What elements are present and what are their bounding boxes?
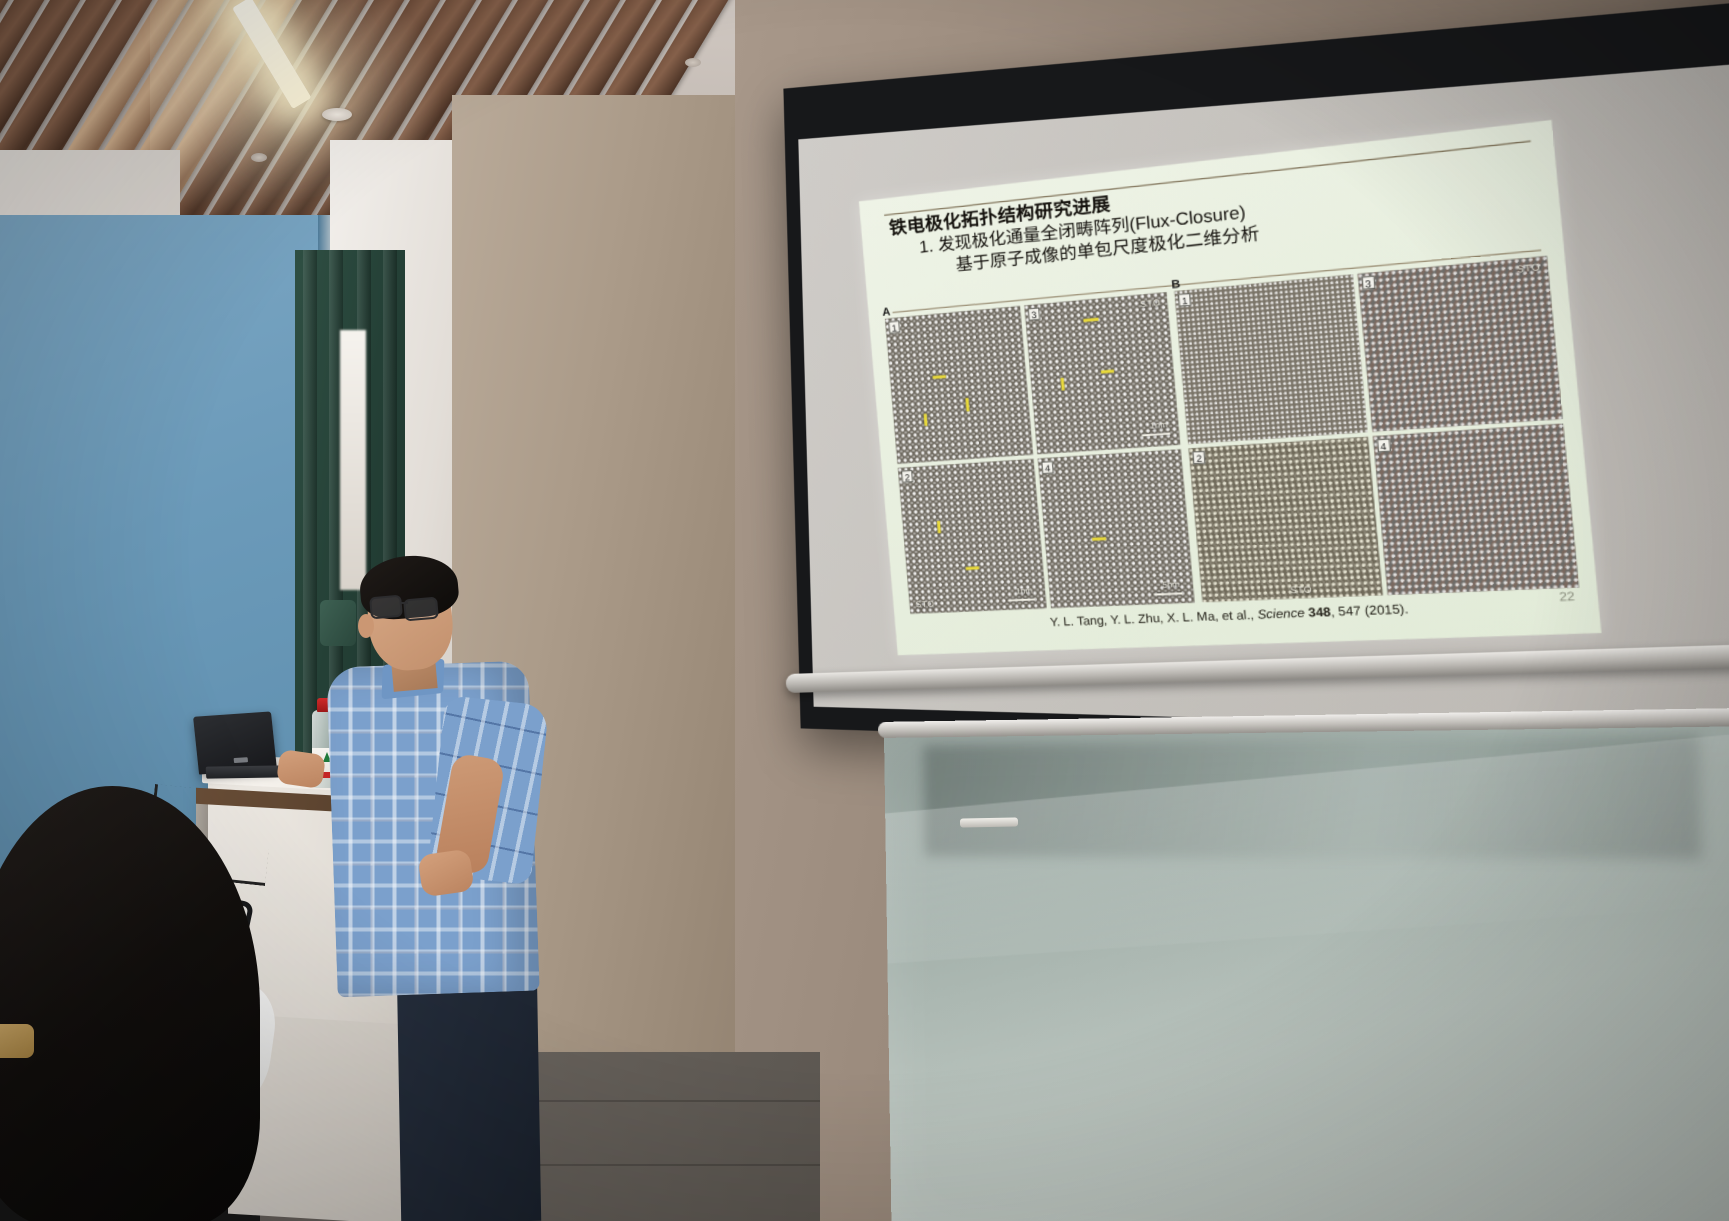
laptop-logo-icon xyxy=(234,757,248,763)
audience-hair-clip-icon xyxy=(0,1024,34,1058)
hrtem-vector-panel: 4 xyxy=(1372,424,1579,596)
panel-tag: 1 xyxy=(888,320,900,333)
projection-screen-surface: 铁电极化拓扑结构研究进展 1. 发现极化通量全闭畴阵列(Flux-Closure… xyxy=(798,54,1729,738)
glass-whiteboard[interactable] xyxy=(884,720,1729,1221)
panel-tag: 2 xyxy=(901,470,913,483)
polarization-arrow xyxy=(933,375,947,379)
figure-group-label-a: A xyxy=(882,306,891,319)
panel-tag: 4 xyxy=(1376,438,1390,452)
polarization-arrow xyxy=(965,398,969,412)
hrtem-panel: 1 xyxy=(885,306,1033,464)
panel-tag: 3 xyxy=(1028,307,1041,321)
laptop-keyboard-base[interactable] xyxy=(206,765,287,778)
sto-label: STO xyxy=(915,598,935,609)
presentation-slide: 铁电极化拓扑结构研究进展 1. 发现极化通量全闭畴阵列(Flux-Closure… xyxy=(859,120,1602,655)
slide-title-block: 铁电极化拓扑结构研究进展 1. 发现极化通量全闭畴阵列(Flux-Closure… xyxy=(888,145,1540,284)
hrtem-panel: 3 STO 1nm xyxy=(1024,292,1180,454)
figure-row: 1 3 STO xyxy=(1174,256,1562,444)
citation-authors: Y. L. Tang, Y. L. Zhu, X. L. Ma, et al., xyxy=(1050,609,1259,629)
sto-label: STO xyxy=(1516,261,1541,275)
sprinkler-icon xyxy=(685,58,701,67)
scale-bar-label: 5nm xyxy=(1162,580,1180,590)
sprinkler-icon xyxy=(251,153,267,162)
polarization-arrow xyxy=(1101,369,1114,373)
figure-group-a: A 1 3 STO xyxy=(885,292,1195,614)
presenter-glasses-left-lens xyxy=(369,595,403,620)
citation-journal: Science xyxy=(1257,607,1309,622)
whiteboard-marker-icon[interactable] xyxy=(960,817,1018,827)
curtain-light-gap xyxy=(340,330,366,590)
figure-group-b: B 1 3 STO 2 xyxy=(1174,256,1579,602)
polarization-arrow xyxy=(1060,378,1064,391)
scale-bar xyxy=(1008,598,1036,602)
scale-bar xyxy=(1142,432,1171,437)
slide-figure: A 1 3 STO xyxy=(885,256,1579,614)
polarization-arrow xyxy=(966,566,980,570)
downlight-icon xyxy=(322,108,352,121)
hrtem-panel: 2 STO xyxy=(1189,437,1383,603)
figure-row: 2 STO 4 xyxy=(1189,424,1579,603)
presenter-left-hand xyxy=(276,749,326,789)
sto-label: STO xyxy=(1290,584,1313,596)
scale-bar xyxy=(1154,592,1183,596)
hrtem-panel: 1 xyxy=(1174,274,1367,444)
sto-label: STO xyxy=(1140,297,1162,310)
hrtem-panel: 2 STO 1nm xyxy=(898,459,1047,614)
panel-tag: 2 xyxy=(1192,451,1206,465)
figure-group-label-b: B xyxy=(1171,278,1181,292)
scale-bar-label: 1nm xyxy=(1150,420,1168,431)
figure-row: 2 STO 1nm 4 5nm xyxy=(898,449,1195,614)
slide-page-number: 22 xyxy=(1559,590,1576,604)
citation-volume: 348 xyxy=(1308,606,1332,620)
presenter-glasses-bridge xyxy=(400,602,408,604)
panel-tag: 3 xyxy=(1361,276,1375,290)
slide-citation: Y. L. Tang, Y. L. Zhu, X. L. Ma, et al.,… xyxy=(1050,603,1409,629)
presenter-glasses-right-lens xyxy=(403,597,439,622)
presenter-right-hand xyxy=(417,849,474,898)
hrtem-panel: 4 5nm xyxy=(1038,449,1195,608)
citation-rest: , 547 (2015). xyxy=(1330,603,1409,619)
scale-bar-label: 1nm xyxy=(1016,586,1033,596)
curtain-tieback xyxy=(320,600,356,646)
polarization-arrow xyxy=(1083,318,1098,323)
polarization-arrow xyxy=(924,414,928,426)
panel-tag: 1 xyxy=(1178,293,1191,307)
figure-row: 1 3 STO xyxy=(885,292,1180,464)
presenter-ear xyxy=(358,614,374,638)
lecture-hall-scene: 铁电极化拓扑结构研究进展 1. 发现极化通量全闭畴阵列(Flux-Closure… xyxy=(0,0,1729,1221)
polarization-arrow xyxy=(937,521,941,533)
polarization-arrow xyxy=(1092,537,1106,541)
hrtem-vector-panel: 3 STO xyxy=(1357,256,1563,432)
panel-tag: 4 xyxy=(1041,461,1054,474)
